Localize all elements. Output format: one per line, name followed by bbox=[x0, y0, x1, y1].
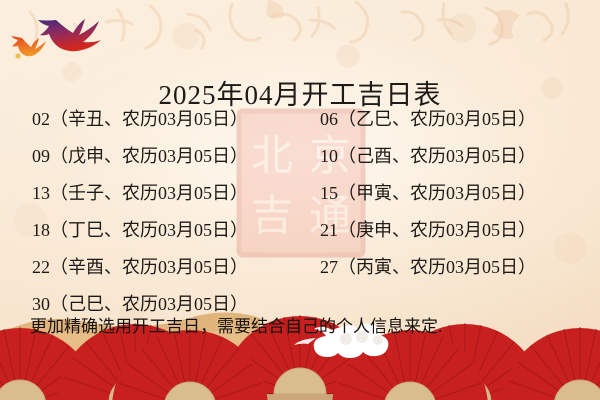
list-item: 18（丁巳、农历03月05日） bbox=[32, 214, 248, 246]
list-item: 22（辛酉、农历03月05日） bbox=[32, 251, 248, 283]
list-item: 06（乙巳、农历03月05日） bbox=[320, 103, 536, 135]
poster-canvas: 北 京 吉 通 bbox=[0, 0, 600, 400]
footer-note: 更加精确选用开工吉日，需要结合自己的个人信息来定. bbox=[30, 312, 590, 337]
list-item: 13（壬子、农历03月05日） bbox=[32, 177, 248, 209]
lucky-date-list: 02（辛丑、农历03月05日） 09（戊申、农历03月05日） 13（壬子、农历… bbox=[0, 103, 600, 308]
list-item: 09（戊申、农历03月05日） bbox=[32, 140, 248, 172]
list-item: 27（丙寅、农历03月05日） bbox=[320, 251, 536, 283]
list-item: 10（己酉、农历03月05日） bbox=[320, 140, 536, 172]
list-item: 15（甲寅、农历03月05日） bbox=[320, 177, 536, 209]
flying-birds-icon bbox=[8, 4, 138, 66]
list-item: 02（辛丑、农历03月05日） bbox=[32, 103, 248, 135]
list-item: 21（庚申、农历03月05日） bbox=[320, 214, 536, 246]
